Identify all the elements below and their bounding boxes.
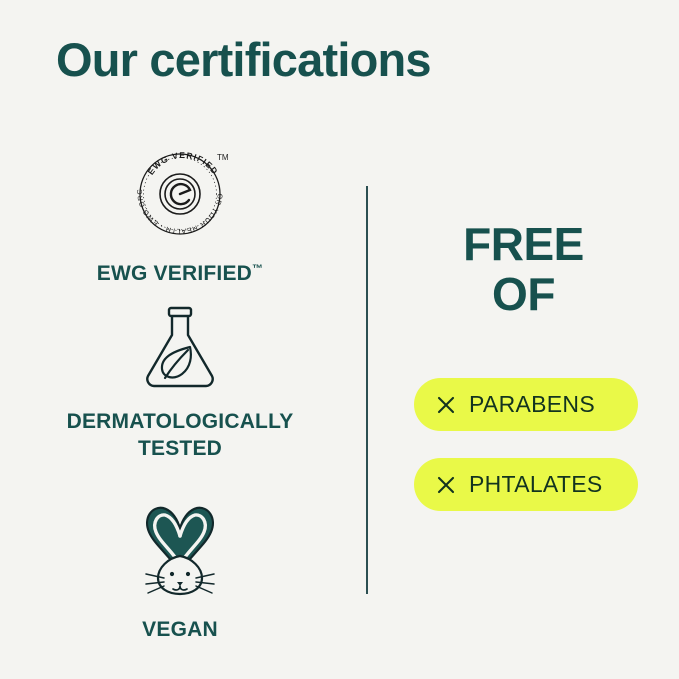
trademark-symbol: ™ xyxy=(252,263,263,275)
certification-label-dermatologically-tested: DERMATOLOGICALLY TESTED xyxy=(67,409,294,463)
cross-icon xyxy=(436,395,456,415)
ewg-label-text: EWG VERIFIED xyxy=(97,262,252,285)
free-of-heading-line-2: OF xyxy=(368,270,679,320)
derm-label-line-1: DERMATOLOGICALLY xyxy=(67,409,294,436)
flask-with-leaf-icon xyxy=(134,302,226,397)
certification-ewg-verified: EWG VERIFIED FOR YOUR HEALTH · EWG.ORG T… xyxy=(0,138,360,288)
certification-label-vegan: VEGAN xyxy=(142,617,218,644)
cross-icon xyxy=(436,475,456,495)
bunny-heart-ears-icon xyxy=(124,498,236,605)
certification-vegan: VEGAN xyxy=(0,498,360,644)
free-of-item-label: PHTALATES xyxy=(469,471,603,498)
certifications-page: Our certifications EWG VERIFIED FOR xyxy=(0,0,679,679)
free-of-heading-line-1: FREE xyxy=(368,220,679,270)
free-of-item-list: PARABENS PHTALATES xyxy=(414,378,638,538)
free-of-heading: FREE OF xyxy=(368,220,679,319)
ewg-verified-badge-icon: EWG VERIFIED FOR YOUR HEALTH · EWG.ORG T… xyxy=(127,138,233,249)
certification-label-ewg: EWG VERIFIED™ xyxy=(97,261,263,288)
free-of-item-label: PARABENS xyxy=(469,391,595,418)
free-of-item-parabens[interactable]: PARABENS xyxy=(414,378,638,431)
derm-label-line-2: TESTED xyxy=(67,436,294,463)
free-of-item-phtalates[interactable]: PHTALATES xyxy=(414,458,638,511)
svg-text:TM: TM xyxy=(217,153,229,162)
page-title: Our certifications xyxy=(56,34,431,86)
certification-dermatologically-tested: DERMATOLOGICALLY TESTED xyxy=(0,302,360,463)
